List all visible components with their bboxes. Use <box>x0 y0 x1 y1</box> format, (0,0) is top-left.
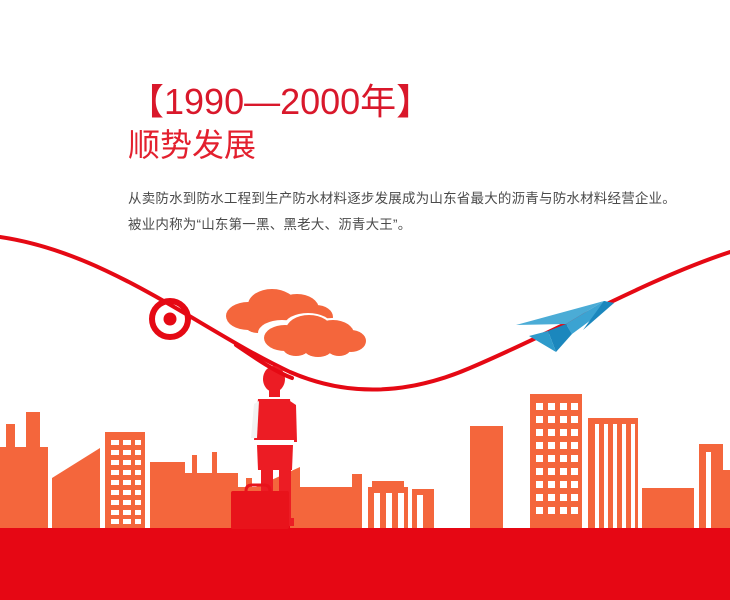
building-antenna-a <box>192 455 197 475</box>
cloud-cluster <box>226 289 366 357</box>
briefcase-body <box>231 491 289 529</box>
building-right-mid-tower <box>470 426 503 529</box>
paper-plane <box>516 301 614 352</box>
description-paragraphs: 从卖防水到防水工程到生产防水材料逐步发展成为山东省最大的沥青与防水材料经营企业。… <box>128 186 708 238</box>
briefcase <box>231 485 289 529</box>
building-left-block <box>0 447 48 529</box>
window-slot-b <box>417 495 423 529</box>
skyline-right-group <box>352 394 730 529</box>
figure-neck <box>269 390 280 397</box>
figure-arm-right <box>290 401 297 442</box>
building-low-left <box>150 462 185 529</box>
building-edge-right <box>723 470 730 529</box>
headline-block: 【1990—2000年】 顺势发展 从卖防水到防水工程到生产防水材料逐步发展成为… <box>128 82 708 238</box>
city-skyline <box>0 394 730 529</box>
building-antenna-b <box>212 452 217 475</box>
red-trend-curve <box>0 237 730 390</box>
figure-torso <box>254 399 294 440</box>
building-slanted-roof <box>52 448 100 529</box>
figure-belt <box>256 440 294 445</box>
page-subtitle: 顺势发展 <box>128 124 708 166</box>
window-grid-left-tower <box>111 440 141 524</box>
bottom-red-band <box>0 528 730 600</box>
window-slot-far-right <box>706 452 711 529</box>
description-line-2: 被业内称为“山东第一黑、黑老大、沥青大王”。 <box>128 212 708 238</box>
figure-hips <box>257 445 293 470</box>
building-right-cap <box>372 481 404 489</box>
page-title: 【1990—2000年】 <box>128 82 708 122</box>
building-right-flat <box>642 488 694 529</box>
window-slots-right-low <box>374 493 404 529</box>
building-stub-right <box>352 474 362 529</box>
slide-canvas: 【1990—2000年】 顺势发展 从卖防水到防水工程到生产防水材料逐步发展成为… <box>0 0 730 600</box>
description-line-1: 从卖防水到防水工程到生产防水材料逐步发展成为山东省最大的沥青与防水材料经营企业。 <box>128 186 708 212</box>
target-center-dot <box>164 313 177 326</box>
